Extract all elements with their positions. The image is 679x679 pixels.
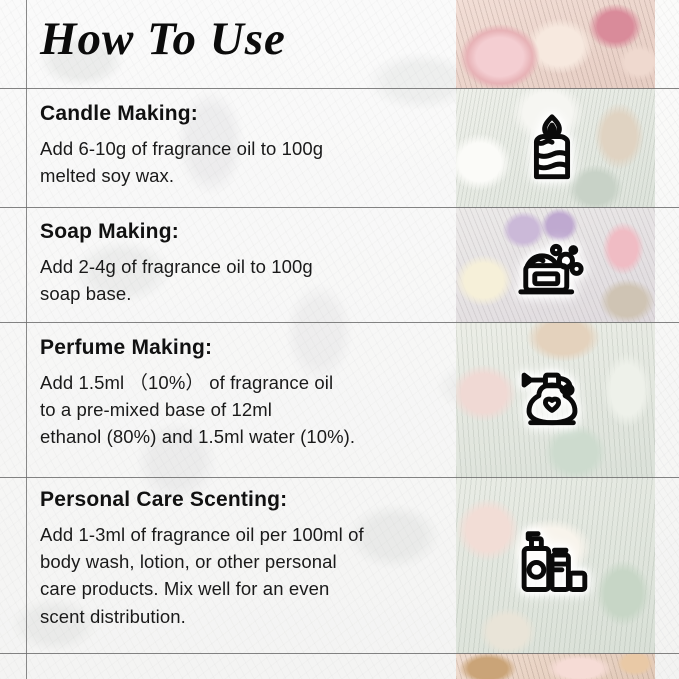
section-heading-perfume-making: Perfume Making:: [40, 336, 440, 360]
personal-care-products-icon: [502, 510, 602, 610]
divider-rule-4: [0, 477, 679, 478]
section-body-personal-care-scenting: Add 1-3ml of fragrance oil per 100ml of …: [40, 521, 440, 630]
section-body-candle-making: Add 6-10g of fragrance oil to 100g melte…: [40, 135, 440, 189]
bottom-floral-photo: [456, 653, 655, 679]
section-soap-making: Soap Making: Add 2-4g of fragrance oil t…: [40, 220, 440, 307]
section-body-perfume-making: Add 1.5ml （10%） of fragrance oil to a pr…: [40, 369, 440, 451]
section-personal-care-scenting: Personal Care Scenting: Add 1-3ml of fra…: [40, 488, 440, 630]
section-body-soap-making: Add 2-4g of fragrance oil to 100g soap b…: [40, 253, 440, 307]
how-to-use-infographic: How To Use Candle Making: Add 6-10g of f…: [0, 0, 679, 679]
divider-rule-5: [0, 653, 679, 654]
left-vertical-rule: [26, 0, 27, 679]
section-heading-candle-making: Candle Making:: [40, 102, 440, 126]
page-title: How To Use: [40, 12, 286, 66]
section-heading-personal-care-scenting: Personal Care Scenting:: [40, 488, 440, 512]
candle-icon: [502, 98, 602, 198]
top-floral-photo: [456, 0, 655, 89]
divider-rule-1: [0, 88, 679, 89]
section-heading-soap-making: Soap Making:: [40, 220, 440, 244]
perfume-atomizer-icon: [502, 344, 602, 444]
section-candle-making: Candle Making: Add 6-10g of fragrance oi…: [40, 102, 440, 189]
section-perfume-making: Perfume Making: Add 1.5ml （10%） of fragr…: [40, 336, 440, 451]
divider-rule-3: [0, 322, 679, 323]
soap-bar-icon: [502, 214, 602, 314]
divider-rule-2: [0, 207, 679, 208]
right-margin-strip: [655, 0, 679, 679]
